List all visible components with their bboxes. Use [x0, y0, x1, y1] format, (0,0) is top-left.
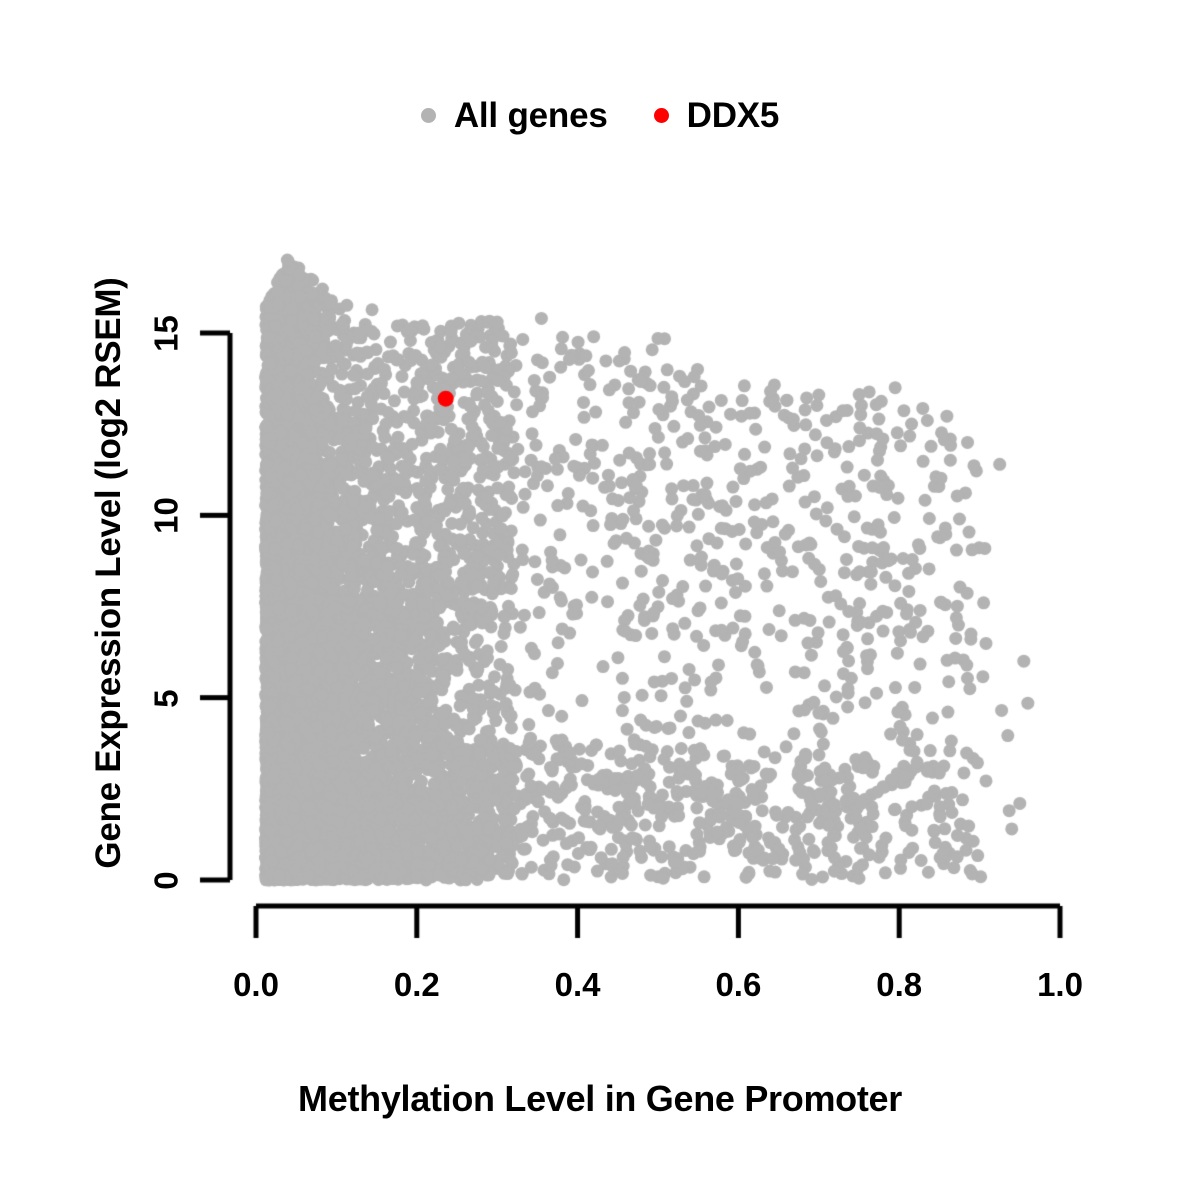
scatter-plot-canvas [0, 0, 1200, 1200]
x-tick-label: 1.0 [1000, 968, 1120, 1001]
y-tick-label: 5 [150, 658, 183, 738]
x-axis-title: Methylation Level in Gene Promoter [0, 1078, 1200, 1120]
x-tick-label: 0.6 [678, 968, 798, 1001]
scatter-plot-figure: All genes DDX5 Gene Expression Level (lo… [0, 0, 1200, 1200]
x-tick-label: 0.0 [196, 968, 316, 1001]
x-tick-label: 0.4 [518, 968, 638, 1001]
x-tick-label: 0.8 [839, 968, 959, 1001]
y-tick-label: 15 [150, 294, 183, 374]
x-tick-label: 0.2 [357, 968, 477, 1001]
y-tick-label: 0 [150, 841, 183, 921]
y-axis-title: Gene Expression Level (log2 RSEM) [89, 203, 129, 943]
y-tick-label: 10 [150, 476, 183, 556]
